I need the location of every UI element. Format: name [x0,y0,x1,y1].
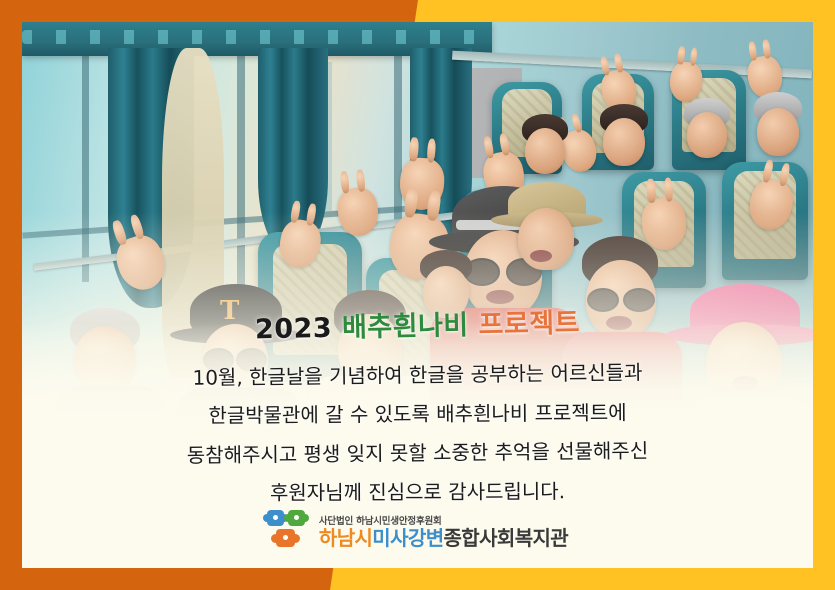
puzzle-piece-logo-icon [267,510,309,550]
message-line: 동참해주시고 평생 잊지 못할 소중한 추억을 선물해주신 [22,430,813,477]
logo-dot [294,515,299,520]
logo-subtitle: 사단법인 하남시민생안정후원회 [319,513,442,527]
organization-logo: 사단법인 하남시민생안정후원회 하남시미사강변종합사회복지관 [22,510,813,550]
message-block: 2023 배추흰나비 프로젝트 10월, 한글날을 기념하여 한글을 공부하는 … [22,312,813,512]
title-year: 2023 [255,313,333,346]
logo-name-part1: 하남시 [319,526,372,550]
thank-you-card: T [0,0,835,590]
face [525,128,565,174]
message-line: 한글박물관에 갈 수 있도록 배추흰나비 프로젝트에 [22,392,813,437]
logo-name-part2: 미사강변 [372,526,443,550]
card-sheet: T [22,22,813,568]
title-project-name: 배추흰나비 [342,310,469,344]
message-line: 후원자님께 진심으로 감사드립니다. [22,471,813,514]
face [603,118,645,166]
thank-you-message: 10월, 한글날을 기념하여 한글을 공부하는 어르신들과 한글박물관에 갈 수… [22,356,813,512]
logo-dot [273,515,278,520]
title-project-suffix: 프로젝트 [478,308,580,341]
logo-organization-name: 하남시미사강변종합사회복지관 [319,528,568,548]
logo-text-block: 사단법인 하남시민생안정후원회 하남시미사강변종합사회복지관 [319,513,568,548]
face [687,112,727,158]
face [757,108,799,156]
logo-dot [283,535,288,540]
logo-name-part3: 종합사회복지관 [444,526,569,550]
